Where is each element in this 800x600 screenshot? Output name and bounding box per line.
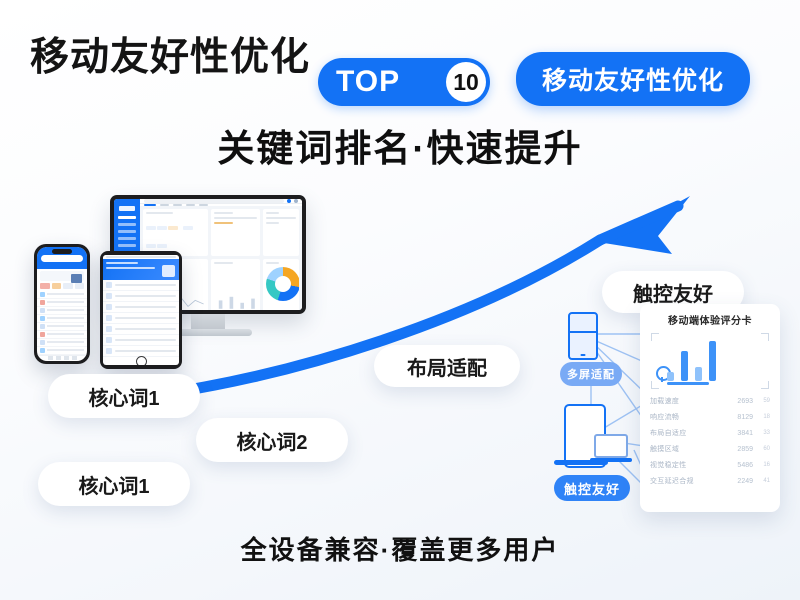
quick-icon (40, 283, 50, 289)
keyword-pill: 核心词1 (48, 374, 200, 418)
top-badge-label: TOP (336, 65, 400, 99)
hero-illustration-icon (162, 265, 175, 277)
row-label: 响应流畅 (650, 412, 723, 422)
search-input (41, 255, 83, 262)
bar-card (211, 259, 259, 310)
footer-caption: 全设备兼容·覆盖更多用户 (0, 530, 800, 567)
phone-body (34, 244, 90, 364)
header-pill: 移动友好性优化 (516, 52, 750, 106)
list-item (37, 339, 87, 347)
score-card-chart (651, 333, 769, 389)
diagram-pill-touch: 触控友好 (554, 475, 630, 501)
list-item (37, 299, 87, 307)
list-item (103, 291, 179, 302)
list-item (37, 331, 87, 339)
sidebar-item (118, 237, 136, 240)
keyword-pill: 核心词1 (38, 462, 190, 506)
tablet-home-button (103, 357, 179, 365)
row-value: 8129 (727, 414, 753, 421)
metric-card (143, 209, 208, 256)
chart-bars (667, 337, 755, 381)
row-value: 2693 (727, 398, 753, 405)
row-label: 布局自适应 (650, 428, 723, 438)
monitor-stand-neck (191, 314, 225, 329)
list-item-icon (106, 282, 112, 288)
page-title: 移动友好性优化 (30, 26, 310, 82)
row-label: 加载速度 (650, 396, 723, 406)
donut-chart-card (263, 259, 299, 310)
diagram-device-base (554, 460, 608, 465)
list-item (103, 280, 179, 291)
row-value: 3841 (727, 430, 753, 437)
list-item-icon (106, 337, 112, 343)
metric-card (263, 209, 299, 256)
tablet-body (100, 251, 182, 369)
feature-pill-layout: 布局适配 (374, 345, 520, 387)
promo-banner (40, 271, 84, 281)
row-delta: 16 (757, 462, 770, 468)
list-item-icon (106, 326, 112, 332)
list-item (103, 302, 179, 313)
row-label: 触摸区域 (650, 444, 723, 454)
device-relation-diagram: 多屏适配 触控友好 移动端体验评分卡 加载速度 2693 (548, 300, 780, 515)
row-delta: 18 (757, 414, 770, 420)
row-label: 视觉稳定性 (650, 460, 723, 470)
list-item-icon (106, 315, 112, 321)
phone-tabbar (37, 355, 87, 361)
tablet-screen (103, 255, 179, 365)
row-delta: 41 (757, 478, 770, 484)
poster-canvas: 移动友好性优化 TOP 10 移动友好性优化 关键词排名·快速提升 (0, 0, 800, 600)
list-item (103, 324, 179, 335)
table-row: 交互延迟合规 2249 41 (649, 473, 771, 489)
list-item (37, 323, 87, 331)
row-label: 交互延迟合规 (650, 476, 723, 486)
row-value: 5486 (727, 462, 753, 469)
phone-notch (52, 249, 72, 254)
chart-baseline (667, 382, 709, 385)
row-value: 2859 (727, 446, 753, 453)
quick-icon (63, 283, 73, 289)
quick-icon (75, 283, 85, 289)
row-delta: 33 (757, 430, 770, 436)
promo-thumbnail-icon (71, 274, 82, 283)
phone-mockup (34, 244, 90, 364)
list-item (37, 291, 87, 299)
tablet-mockup (100, 251, 182, 369)
list-item (37, 347, 87, 355)
table-row: 视觉稳定性 5486 16 (649, 457, 771, 473)
sidebar-item (118, 223, 136, 226)
list-item (103, 313, 179, 324)
page-subtitle: 关键词排名·快速提升 (0, 118, 800, 172)
row-delta: 60 (757, 446, 770, 452)
list-item (37, 307, 87, 315)
bar-chart-icon (214, 292, 259, 310)
score-card-rows: 加载速度 2693 59 响应流畅 8129 18 布局自适应 3841 33 … (649, 393, 771, 489)
score-card: 移动端体验评分卡 加载速度 2693 59 响 (640, 304, 780, 512)
quick-icon (52, 283, 62, 289)
list-item-icon (106, 293, 112, 299)
table-row: 响应流畅 8129 18 (649, 409, 771, 425)
sidebar-item (118, 244, 136, 247)
dashboard-logo (119, 206, 135, 211)
list-item (103, 335, 179, 346)
list-item-icon (106, 304, 112, 310)
quick-icon-row (37, 283, 87, 291)
sidebar-item (118, 216, 136, 219)
top-rank-badge: TOP 10 (318, 58, 490, 106)
table-row: 布局自适应 3841 33 (649, 425, 771, 441)
top-badge-rank: 10 (446, 62, 486, 102)
phone-screen (37, 247, 87, 361)
metric-card (211, 209, 259, 256)
sidebar-item (118, 230, 136, 233)
tablet-hero-banner (103, 259, 179, 280)
row-value: 2249 (727, 478, 753, 485)
device-mockups (24, 195, 324, 390)
table-row: 触摸区域 2859 60 (649, 441, 771, 457)
donut-chart-icon (266, 267, 299, 301)
table-row: 加载速度 2693 59 (649, 393, 771, 409)
diagram-pill-multiscreen: 多屏适配 (560, 362, 622, 386)
row-delta: 59 (757, 398, 770, 404)
list-item-icon (106, 348, 112, 354)
keyword-pill: 核心词2 (196, 418, 348, 462)
score-card-title: 移动端体验评分卡 (649, 312, 771, 327)
list-item (37, 315, 87, 323)
small-phone-icon (568, 312, 598, 360)
